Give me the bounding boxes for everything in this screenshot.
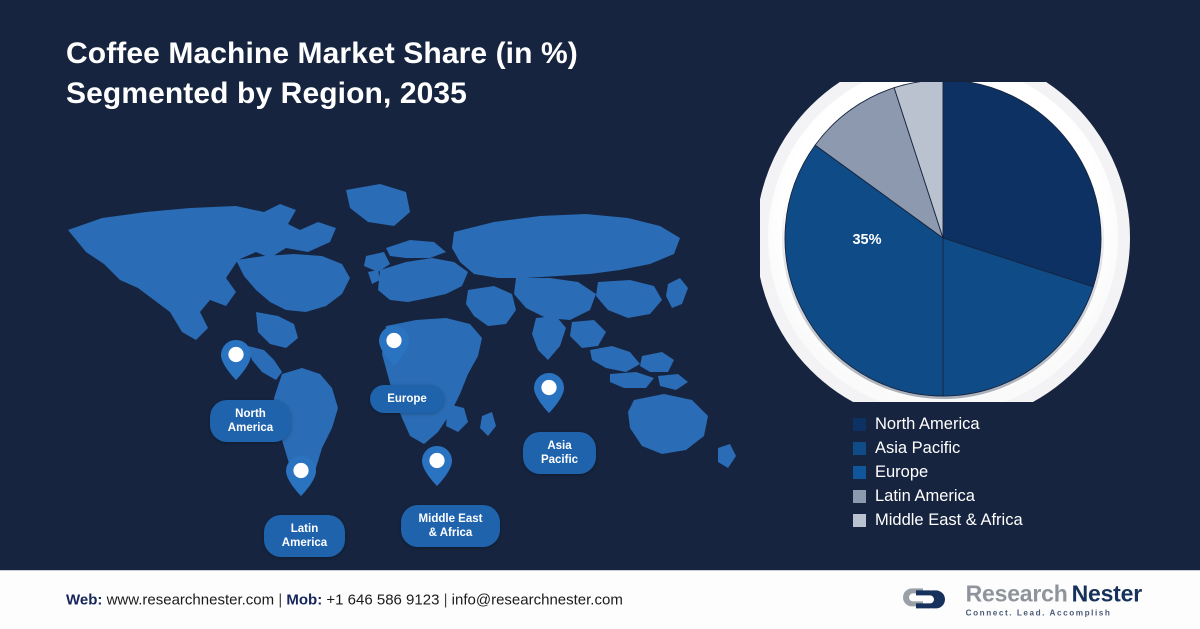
footer-web-value[interactable]: www.researchnester.com — [107, 592, 275, 609]
page-title: Coffee Machine Market Share (in %) Segme… — [66, 34, 746, 114]
legend-item-north-america[interactable]: North America — [853, 412, 1023, 436]
pie-slice-label-europe: 35% — [852, 232, 881, 248]
location-pin-icon — [534, 373, 564, 413]
pie-chart: 35% — [760, 82, 1130, 402]
footer-bar: Web: www.researchnester.com | Mob: +1 64… — [0, 570, 1200, 629]
location-pin-icon — [422, 446, 452, 486]
legend-item-middle-east-africa[interactable]: Middle East & Africa — [853, 508, 1023, 532]
logo-word-nester: Nester — [1072, 580, 1142, 606]
footer-contact: Web: www.researchnester.com | Mob: +1 64… — [66, 592, 623, 609]
map-pin-asia-pacific[interactable] — [534, 373, 564, 413]
footer-email-value[interactable]: info@researchnester.com — [452, 592, 623, 609]
logo-word-research: Research — [966, 580, 1068, 606]
legend-swatch-asia-pacific — [853, 442, 866, 455]
logo-name: ResearchNester — [966, 582, 1142, 605]
footer-separator-2: | — [444, 592, 448, 609]
legend-label-middle-east-africa: Middle East & Africa — [875, 512, 1023, 529]
map-label-latin-america[interactable]: Latin America — [264, 515, 345, 557]
location-pin-icon — [221, 340, 251, 380]
map-pin-latin-america[interactable] — [286, 456, 316, 496]
title-line-2: Segmented by Region, 2035 — [66, 74, 746, 114]
logo-tagline: Connect. Lead. Accomplish — [966, 609, 1142, 617]
legend-item-latin-america[interactable]: Latin America — [853, 484, 1023, 508]
title-line-1: Coffee Machine Market Share (in %) — [66, 37, 578, 70]
map-label-middle-east-africa[interactable]: Middle East & Africa — [401, 505, 500, 547]
legend-item-europe[interactable]: Europe — [853, 460, 1023, 484]
map-label-asia-pacific[interactable]: Asia Pacific — [523, 432, 596, 474]
legend-swatch-north-america — [853, 418, 866, 431]
pie-chart-svg: 35% — [760, 82, 1130, 402]
main-panel: Coffee Machine Market Share (in %) Segme… — [0, 0, 1200, 570]
legend-item-asia-pacific[interactable]: Asia Pacific — [853, 436, 1023, 460]
pie-slices — [785, 82, 1101, 396]
map-label-north-america[interactable]: North America — [210, 400, 291, 442]
legend-label-north-america: North America — [875, 416, 980, 433]
footer-web-label: Web: — [66, 592, 102, 609]
world-map: North America Europe Asia Pacific — [50, 160, 750, 490]
legend-swatch-europe — [853, 466, 866, 479]
footer-separator-1: | — [278, 592, 282, 609]
world-map-svg — [50, 160, 750, 490]
logo-wordmark: ResearchNester Connect. Lead. Accomplish — [966, 582, 1142, 617]
legend-swatch-latin-america — [853, 490, 866, 503]
map-pin-north-america[interactable] — [221, 340, 251, 380]
research-nester-logo[interactable]: ResearchNester Connect. Lead. Accomplish — [903, 582, 1142, 617]
chart-legend: North America Asia Pacific Europe Latin … — [853, 412, 1023, 532]
chain-link-logo-icon — [903, 584, 957, 616]
legend-label-latin-america: Latin America — [875, 488, 975, 505]
footer-mob-value: +1 646 586 9123 — [326, 592, 439, 609]
location-pin-icon — [286, 456, 316, 496]
legend-label-asia-pacific: Asia Pacific — [875, 440, 960, 457]
legend-label-europe: Europe — [875, 464, 928, 481]
location-pin-icon — [379, 326, 409, 366]
infographic-canvas: Coffee Machine Market Share (in %) Segme… — [0, 0, 1200, 628]
footer-mob-label: Mob: — [286, 592, 322, 609]
legend-swatch-middle-east-africa — [853, 514, 866, 527]
map-label-europe[interactable]: Europe — [370, 385, 444, 413]
map-pin-middle-east-africa[interactable] — [422, 446, 452, 486]
map-pin-europe[interactable] — [379, 326, 409, 366]
